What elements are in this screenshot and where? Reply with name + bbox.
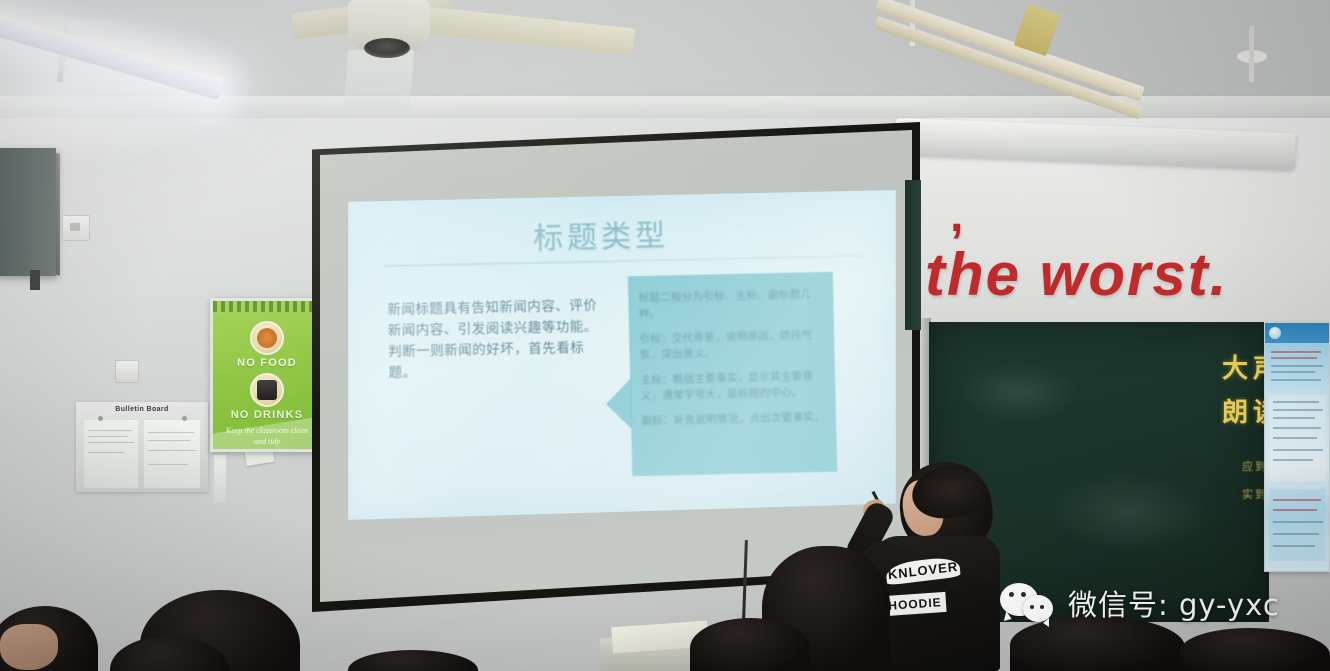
power-outlet-slot xyxy=(70,223,80,231)
ceiling-rod-2 xyxy=(1249,26,1254,82)
poster-text-line xyxy=(1273,401,1319,403)
poster-text-line xyxy=(1271,357,1317,359)
poster-text-line xyxy=(1271,351,1321,353)
drink-badge-icon xyxy=(250,373,284,407)
wechat-eye xyxy=(1021,592,1026,597)
fan-blade-blur xyxy=(344,50,414,112)
cup-glyph xyxy=(257,380,277,400)
poster-text-line xyxy=(1273,409,1323,411)
chalk-smudge xyxy=(959,362,1079,422)
poster-text-line xyxy=(1273,437,1317,439)
callout-line: 引标：交代背景，说明原因，烘托气氛，突出意义。 xyxy=(639,327,828,363)
wechat-eye xyxy=(1009,592,1014,597)
poster-text-line xyxy=(1271,365,1323,367)
burger-glyph xyxy=(257,328,277,348)
callout-line: 标题二般分为引标、主标、副标题几种。 xyxy=(638,286,827,322)
wechat-eye xyxy=(1030,605,1034,609)
slide-body-text: 新闻标题具有告知新闻内容、评价新闻内容、引发阅读兴趣等功能。判断一则新闻的好坏，… xyxy=(387,296,599,384)
slide-divider xyxy=(384,255,862,267)
classroom-photo: Bulletin Board NO FOOD NO DRINKS Keep th… xyxy=(0,0,1330,671)
wechat-eye xyxy=(1040,605,1044,609)
chalk-smudge xyxy=(1049,472,1209,552)
power-outlet-secondary xyxy=(115,360,139,383)
wall-speaker xyxy=(0,148,56,276)
wechat-icon xyxy=(1000,583,1058,623)
bulletin-text-line xyxy=(148,432,194,433)
projected-slide: 标题类型 新闻标题具有告知新闻内容、评价新闻内容、引发阅读兴趣等功能。判断一则新… xyxy=(348,190,896,520)
bulletin-board: Bulletin Board xyxy=(76,402,208,492)
school-emblem-icon xyxy=(1269,327,1281,339)
callout-line: 主标：概括主要事实，显示其主要意义，通常字号大，是标题的中心。 xyxy=(640,368,829,404)
poster-text-line xyxy=(1273,459,1313,461)
poster-no-food-no-drinks: NO FOOD NO DRINKS Keep the classroom cle… xyxy=(210,298,324,452)
student-face xyxy=(0,624,58,670)
bulletin-text-line xyxy=(148,464,188,465)
callout-arrow-icon xyxy=(605,378,632,431)
poster-text-line xyxy=(1273,509,1317,511)
poster-text-line xyxy=(1271,371,1315,373)
poster-text-line xyxy=(1273,449,1323,451)
student-silhouette xyxy=(690,618,810,671)
wechat-bubble-small xyxy=(1023,595,1053,622)
bulletin-text-line xyxy=(88,442,134,443)
bulletin-text-line xyxy=(148,450,196,451)
poster-text-line xyxy=(1273,545,1315,547)
poster-header-band xyxy=(1265,323,1329,343)
wall-letters-the-worst: the worst. xyxy=(925,240,1228,309)
slide-callout-text: 标题二般分为引标、主标、副标题几种。 引标：交代背景，说明原因，烘托气氛，突出意… xyxy=(638,286,829,438)
bulletin-text-line xyxy=(148,440,190,441)
poster-text-line xyxy=(1273,499,1321,501)
poster-text-line xyxy=(1273,521,1323,523)
poster-text-line xyxy=(1273,417,1315,419)
poster-line-1: NO FOOD xyxy=(213,357,321,369)
poster-top-band xyxy=(213,301,321,312)
callout-line: 副标：补充说明情况，点出次要事实。 xyxy=(641,409,829,429)
wall-letter-comma: , xyxy=(950,188,963,243)
slide-title: 标题类型 xyxy=(533,210,670,257)
bulletin-text-line xyxy=(88,452,124,453)
poster-safety-board xyxy=(1264,322,1330,572)
wall-speaker-mount xyxy=(30,270,40,290)
pin-icon xyxy=(98,416,103,421)
pin-icon xyxy=(182,416,187,421)
food-badge-icon xyxy=(250,321,284,355)
wechat-id-text: 微信号: gy-yxc xyxy=(1068,582,1280,624)
bulletin-sheet xyxy=(144,420,200,488)
wechat-watermark: 微信号: gy-yxc xyxy=(1000,582,1280,624)
wall-paper-strip xyxy=(214,455,226,503)
poster-text-line xyxy=(1273,427,1321,429)
bulletin-text-line xyxy=(88,430,132,431)
bulletin-board-label: Bulletin Board xyxy=(76,406,208,413)
poster-text-line xyxy=(1271,379,1321,381)
wall-board-edge xyxy=(905,180,921,330)
bulletin-text-line xyxy=(88,436,128,437)
poster-text-line xyxy=(1273,533,1319,535)
ceiling-fan-ring xyxy=(364,38,410,58)
